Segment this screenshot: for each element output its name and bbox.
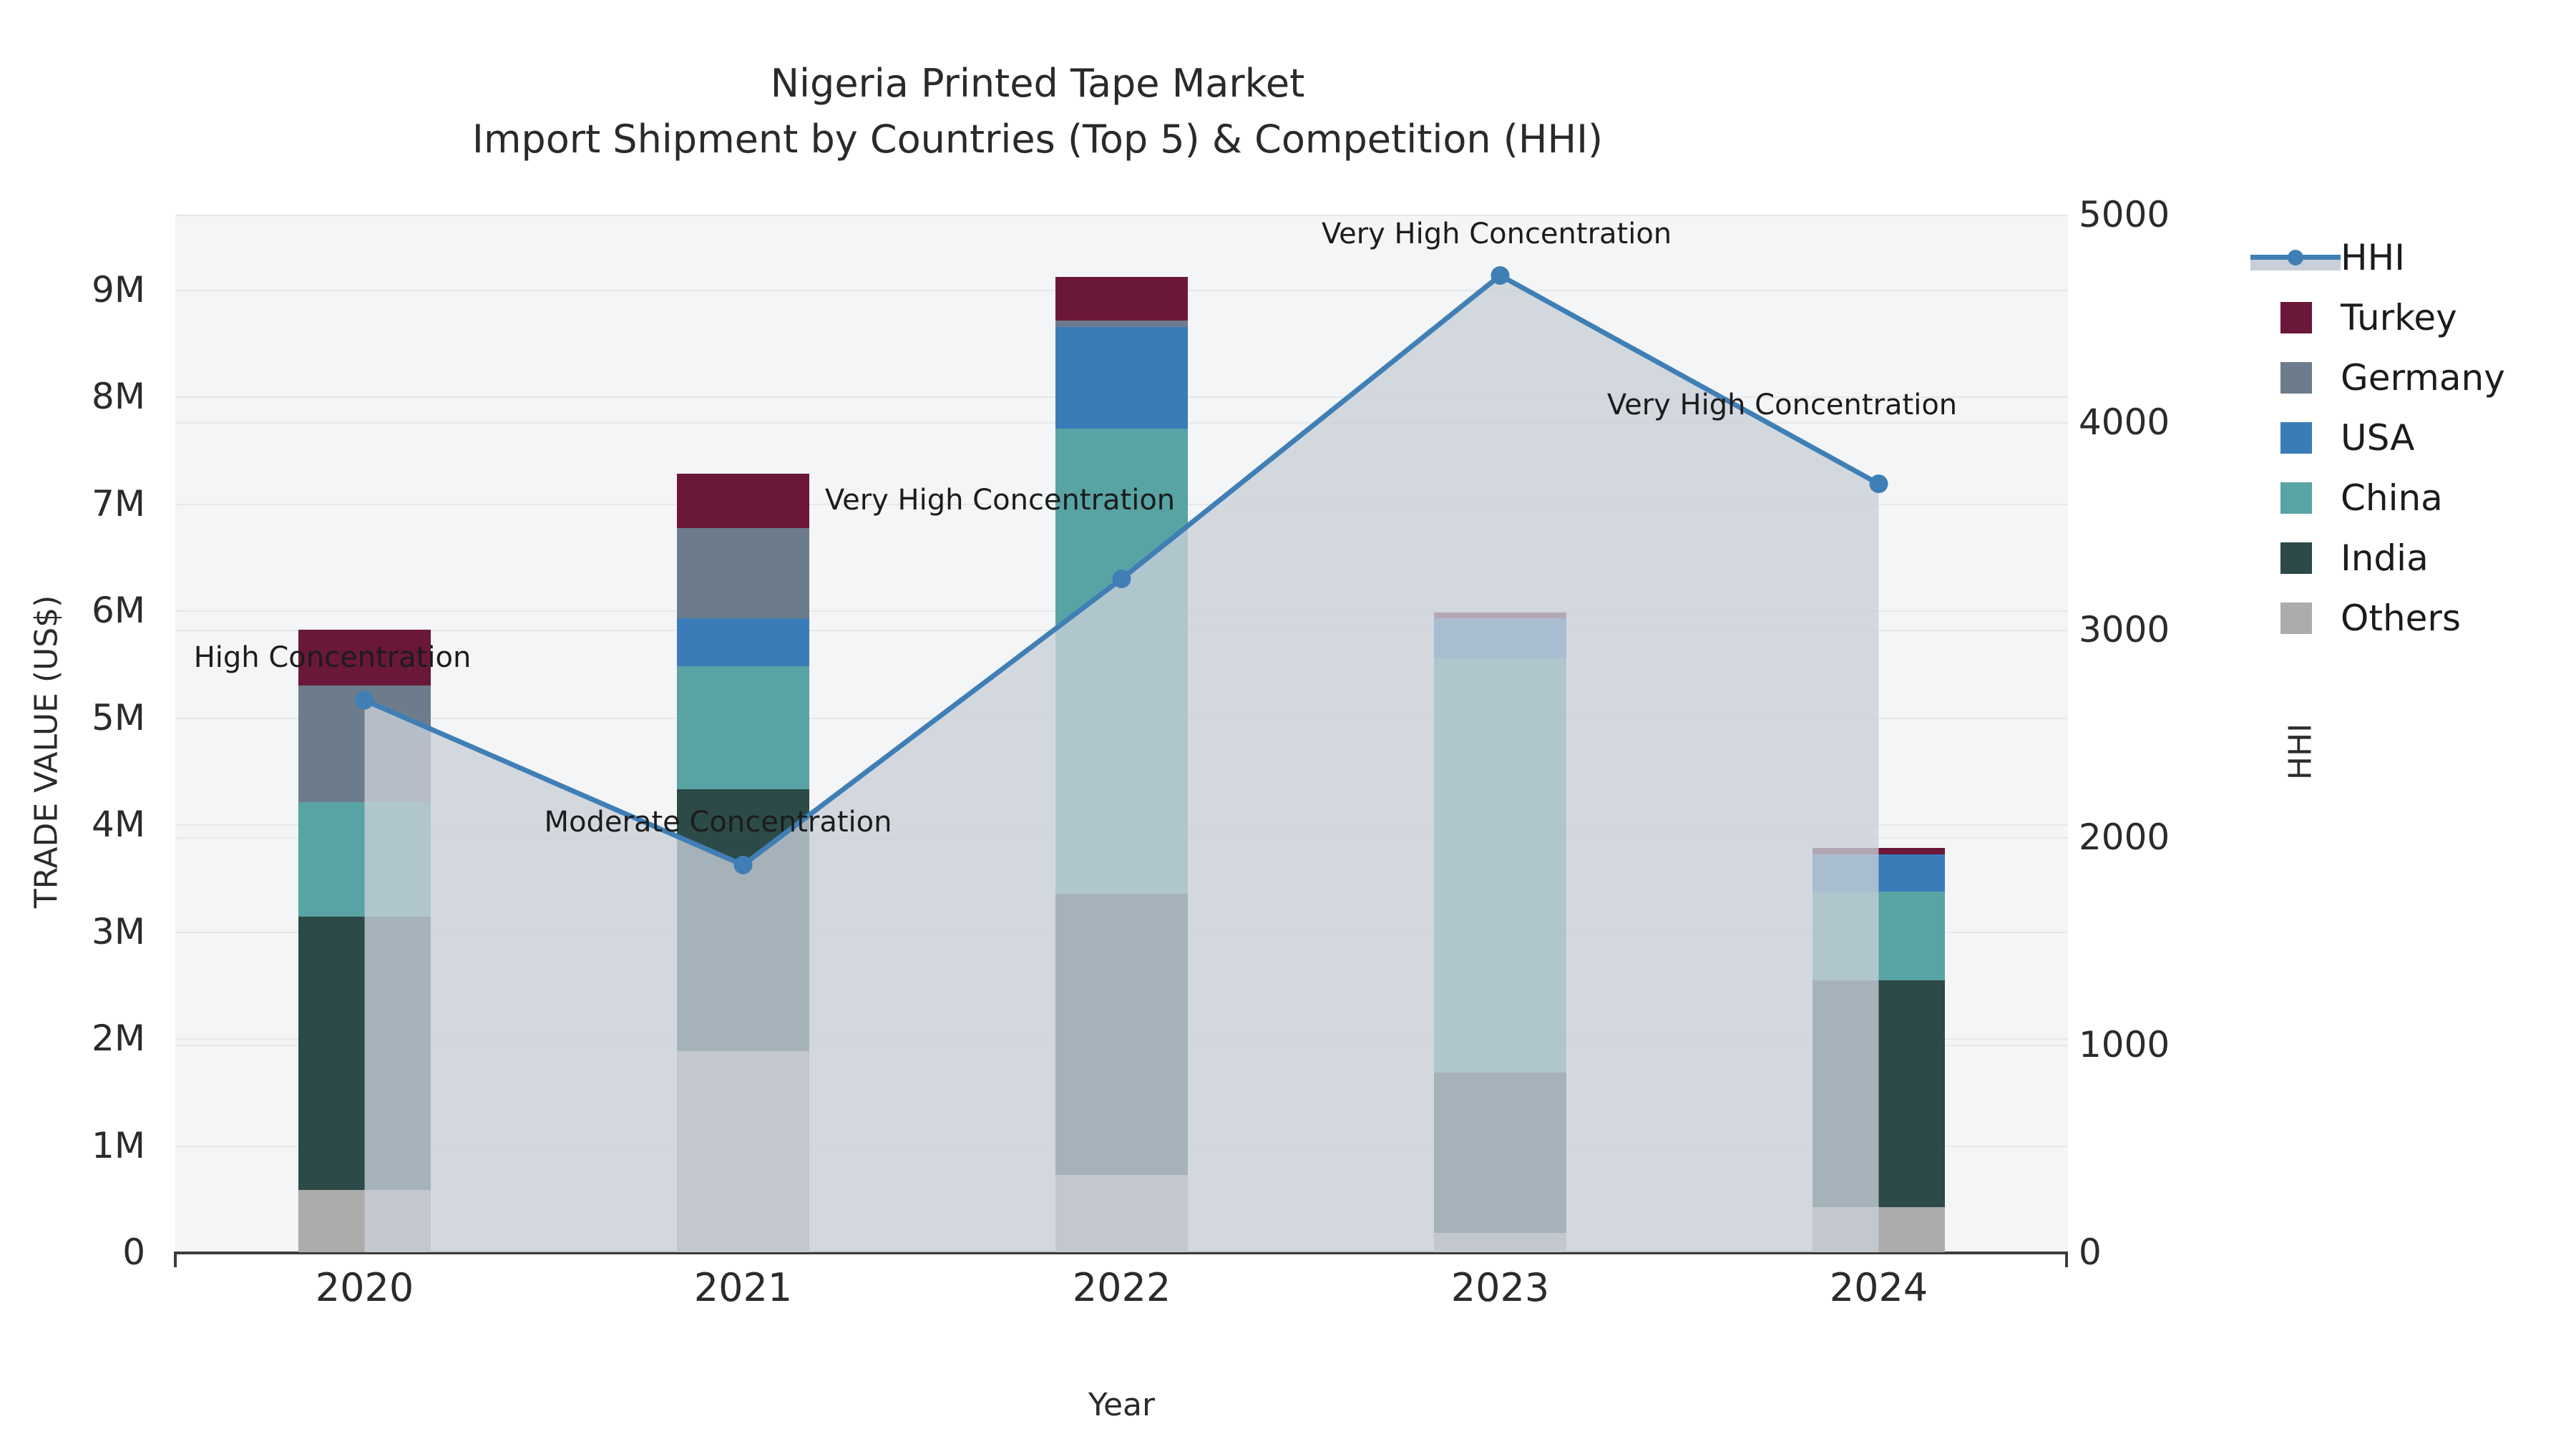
legend-label: Germany [2341,357,2505,399]
bar-segment-others[interactable] [1055,1175,1188,1252]
chart-title-line-2: Import Shipment by Countries (Top 5) & C… [0,112,2075,167]
y-tick-right: 1000 [2079,1024,2170,1065]
legend-label: Others [2341,597,2461,639]
y-axis-right-ticks: 010002000300040005000 [2079,0,2293,1449]
legend-item-hhi[interactable]: HHI [2250,228,2565,288]
bar-segment-usa[interactable] [1434,618,1566,659]
y-axis-right-label: HHI [2283,645,2319,859]
bar-segment-turkey[interactable] [1813,848,1945,854]
bar-segment-others[interactable] [1434,1233,1566,1252]
legend-item-germany[interactable]: Germany [2250,348,2565,408]
legend-item-others[interactable]: Others [2250,588,2565,648]
legend-swatch-icon [2280,602,2312,634]
y-tick-left: 2M [92,1018,161,1059]
chart-root: Nigeria Printed Tape Market Import Shipm… [0,0,2576,1449]
y-tick-left: 8M [92,376,161,417]
bar-stack[interactable] [677,215,809,1252]
legend-swatch-icon [2280,482,2312,514]
concentration-annotation: Very High Concentration [1607,389,1957,421]
y-tick-right: 0 [2079,1231,2102,1273]
bar-segment-usa[interactable] [1055,327,1188,429]
x-tick-label: 2022 [1073,1265,1171,1310]
y-tick-right: 5000 [2079,194,2170,235]
chart-title-line-1: Nigeria Printed Tape Market [0,56,2075,112]
y-tick-left: 6M [92,590,161,631]
concentration-annotation: High Concentration [194,641,472,674]
y-tick-left: 0 [122,1231,161,1273]
bar-segment-turkey[interactable] [1055,277,1188,321]
legend-item-india[interactable]: India [2250,528,2565,588]
bar-segment-china[interactable] [677,666,809,789]
bar-segment-india[interactable] [298,917,431,1191]
bar-segment-others[interactable] [298,1190,431,1252]
bar-segment-turkey[interactable] [677,474,809,528]
bar-stack[interactable] [1055,215,1188,1252]
bar-segment-usa[interactable] [1813,854,1945,892]
y-tick-left: 9M [92,269,161,311]
legend-line-icon [2250,242,2341,273]
y-tick-left: 7M [92,483,161,525]
bar-segment-germany[interactable] [298,686,431,802]
concentration-annotation: Moderate Concentration [545,806,892,839]
chart-title: Nigeria Printed Tape Market Import Shipm… [0,56,2075,168]
legend-label: India [2341,537,2429,579]
y-axis-left-label: TRADE VALUE (US$) [29,537,65,967]
x-tick-label: 2020 [316,1265,414,1310]
bar-segment-usa[interactable] [677,618,809,666]
bar-segment-germany[interactable] [677,528,809,618]
legend-label: China [2341,477,2443,519]
legend-swatch-icon [2280,422,2312,454]
x-axis-label: Year [175,1387,2068,1423]
x-axis-cap-left [174,1252,177,1267]
legend-item-turkey[interactable]: Turkey [2250,288,2565,348]
bar-stack[interactable] [298,215,431,1252]
legend-swatch-icon [2280,542,2312,574]
concentration-annotation: Very High Concentration [825,484,1175,517]
y-tick-right: 2000 [2079,816,2170,858]
bar-segment-china[interactable] [1813,892,1945,980]
bar-segment-others[interactable] [677,1051,809,1252]
bar-segment-china[interactable] [298,802,431,917]
y-tick-left: 1M [92,1125,161,1166]
bar-segment-india[interactable] [1055,894,1188,1175]
x-tick-label: 2023 [1451,1265,1549,1310]
bar-segment-others[interactable] [1813,1207,1945,1252]
y-tick-left: 3M [92,911,161,952]
bar-stack[interactable] [1434,215,1566,1252]
legend-item-usa[interactable]: USA [2250,408,2565,468]
legend-swatch-icon [2280,302,2312,333]
bar-segment-germany[interactable] [1055,321,1188,327]
x-tick-label: 2021 [694,1265,792,1310]
y-axis-left-ticks: 01M2M3M4M5M6M7M8M9M [0,0,161,1449]
bar-segment-india[interactable] [1813,980,1945,1207]
x-tick-label: 2024 [1830,1265,1928,1310]
legend-swatch-icon [2280,362,2312,394]
y-tick-left: 4M [92,804,161,845]
bar-segment-india[interactable] [1434,1073,1566,1233]
x-axis-cap-right [2065,1252,2068,1267]
legend-item-china[interactable]: China [2250,468,2565,528]
y-tick-right: 3000 [2079,609,2170,650]
y-tick-left: 5M [92,697,161,738]
bar-segment-turkey[interactable] [1434,613,1566,618]
bar-stack[interactable] [1813,215,1945,1252]
chart-legend: HHITurkeyGermanyUSAChinaIndiaOthers [2250,228,2565,648]
concentration-annotation: Very High Concentration [1322,218,1672,250]
legend-label: Turkey [2341,297,2457,338]
y-tick-right: 4000 [2079,401,2170,443]
bar-segment-china[interactable] [1434,658,1566,1073]
legend-label: HHI [2341,237,2405,278]
legend-label: USA [2341,417,2414,459]
